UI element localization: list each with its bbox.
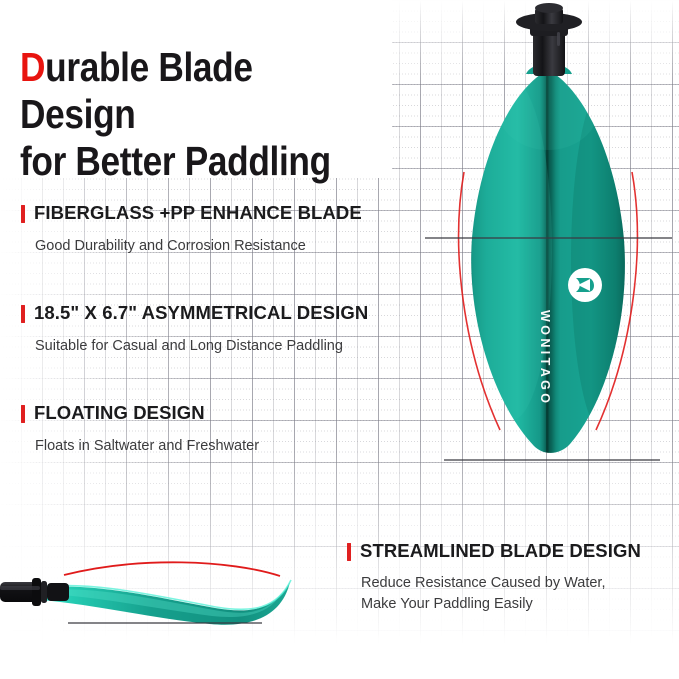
bottom-backdrop (0, 643, 679, 679)
feature-title: FIBERGLASS +PP ENHANCE BLADE (34, 203, 362, 223)
bullet-bar-icon (347, 543, 351, 561)
feature-subtitle: Good Durability and Corrosion Resistance (35, 236, 421, 257)
feature-item-floating: FLOATING DESIGN Floats in Saltwater and … (21, 403, 421, 457)
bullet-bar-icon (21, 405, 25, 423)
feature-subtitle: Floats in Saltwater and Freshwater (35, 436, 421, 457)
feature-title: STREAMLINED BLADE DESIGN (360, 541, 641, 561)
brand-name: WONITAGO (538, 310, 552, 406)
feature-title: 18.5" X 6.7" ASYMMETRICAL DESIGN (34, 303, 368, 323)
bullet-bar-icon (21, 305, 25, 323)
paddle-shaft-ferrule (516, 3, 582, 76)
feature-item-fiberglass: FIBERGLASS +PP ENHANCE BLADE Good Durabi… (21, 203, 421, 257)
headline-line-2: for Better Paddling (20, 138, 331, 184)
blade-body (471, 60, 639, 460)
page-title: Durable Blade Design for Better Paddling (20, 44, 355, 185)
feature-subtitle: Suitable for Casual and Long Distance Pa… (35, 336, 421, 357)
feature-item-streamlined: STREAMLINED BLADE DESIGN Reduce Resistan… (347, 541, 677, 615)
feature-title: FLOATING DESIGN (34, 403, 205, 423)
headline-line-1: urable Blade Design (20, 44, 253, 137)
feature-heading-row: FIBERGLASS +PP ENHANCE BLADE (21, 203, 421, 223)
brand-logo-icon (568, 268, 602, 302)
headline-accent-letter: D (20, 44, 45, 90)
infographic-page: Durable Blade Design for Better Paddling… (0, 0, 679, 679)
feature-heading-row: FLOATING DESIGN (21, 403, 421, 423)
feature-item-asymmetrical: 18.5" X 6.7" ASYMMETRICAL DESIGN Suitabl… (21, 303, 421, 357)
bullet-bar-icon (21, 205, 25, 223)
paddle-blade-side-profile (0, 520, 340, 640)
feature-subtitle: Reduce Resistance Caused by Water, Make … (361, 573, 677, 615)
curvature-annotation (64, 562, 280, 576)
feature-heading-row: 18.5" X 6.7" ASYMMETRICAL DESIGN (21, 303, 421, 323)
feature-heading-row: STREAMLINED BLADE DESIGN (347, 541, 677, 561)
